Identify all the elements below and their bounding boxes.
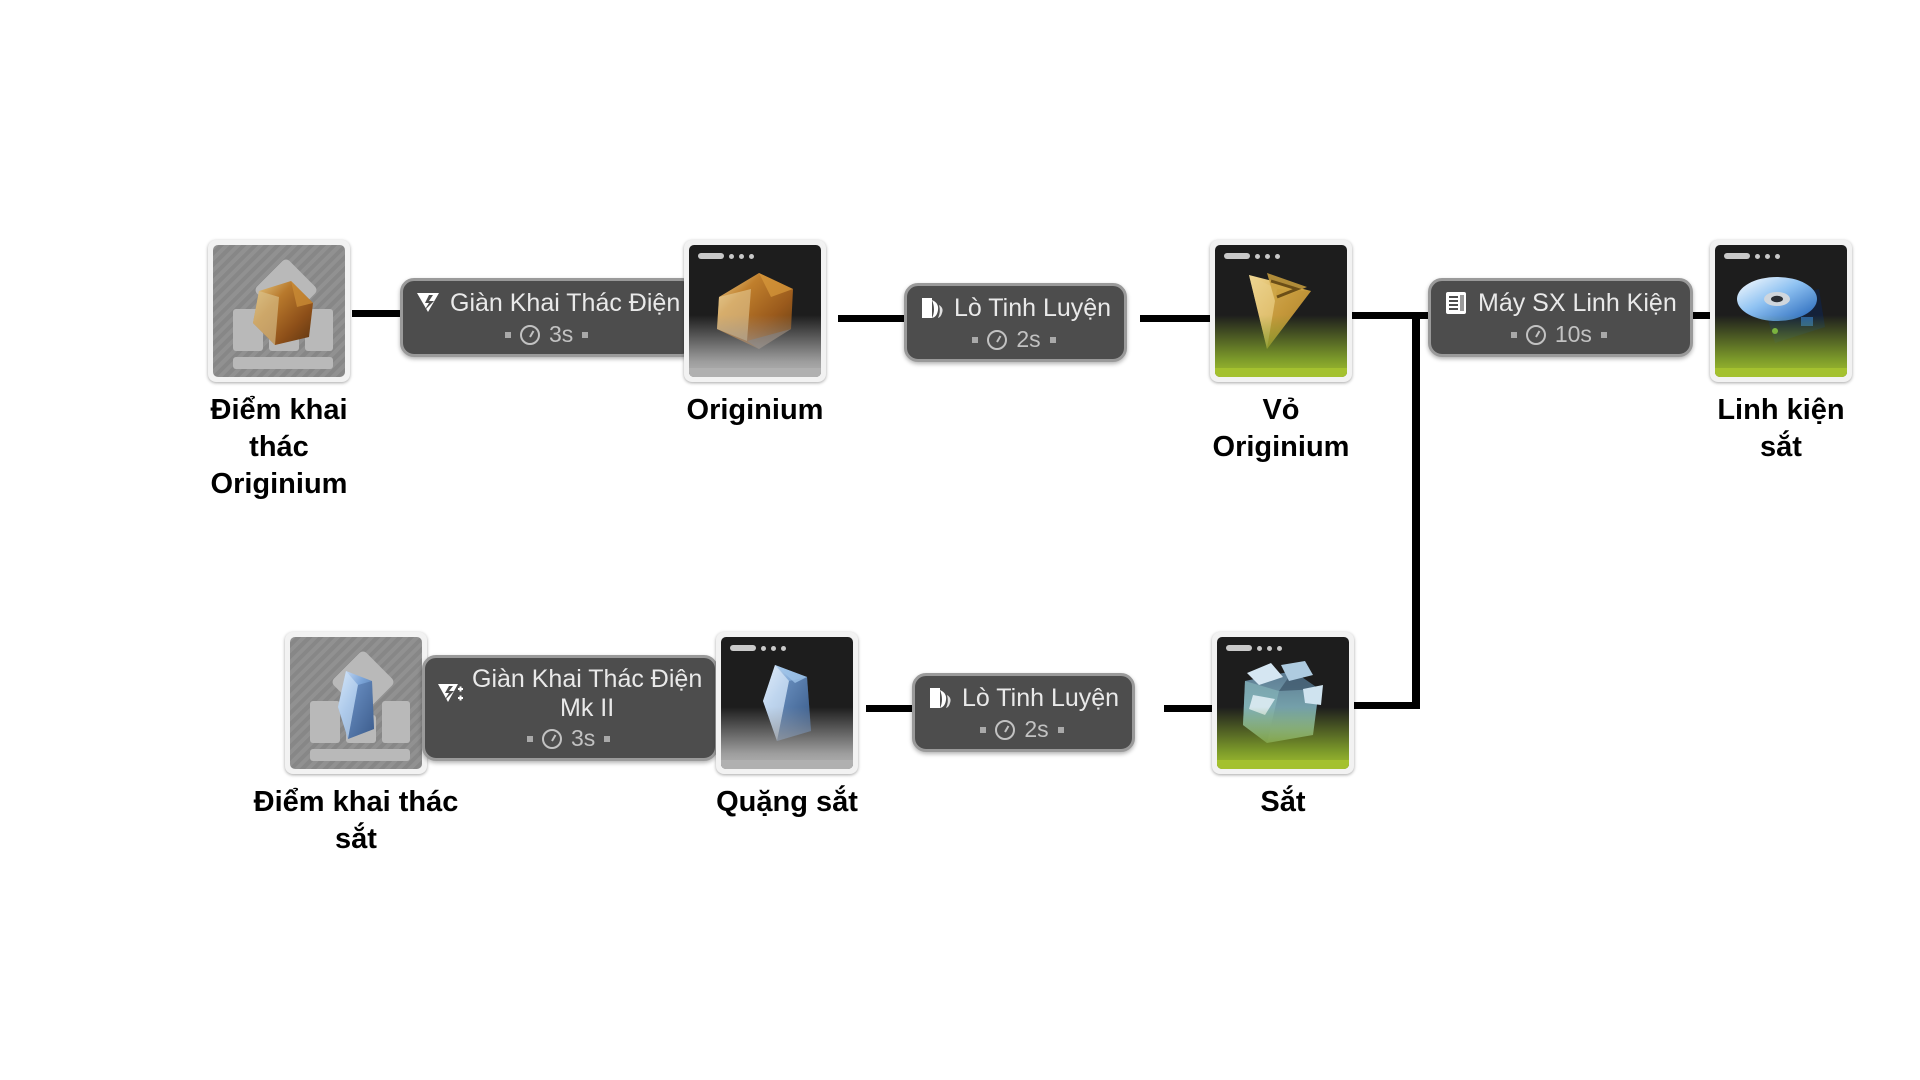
clock-icon xyxy=(995,720,1015,740)
recipe-time: 2s xyxy=(972,326,1055,353)
card-badges xyxy=(1724,253,1780,259)
assembler-icon xyxy=(1441,288,1471,318)
tier-dot xyxy=(739,254,744,259)
tier-dot xyxy=(1275,254,1280,259)
rarity-pill xyxy=(1226,645,1252,651)
smelter-icon xyxy=(917,293,947,323)
tier-dot xyxy=(1765,254,1770,259)
tier-dot xyxy=(1265,254,1270,259)
tier-dot xyxy=(1775,254,1780,259)
tick-right xyxy=(604,736,610,742)
crafting-tree-diagram: Điểm khai thác Originium Giàn Khai Thác … xyxy=(0,0,1920,1080)
iron-component-icon[interactable] xyxy=(1710,240,1852,382)
node-quang-sat[interactable]: Quặng sắt xyxy=(716,632,858,821)
card-base-strip xyxy=(1715,368,1847,377)
connector-sat-elbow-bottom xyxy=(1352,702,1420,709)
node-originium[interactable]: Originium xyxy=(684,240,826,429)
tier-dot xyxy=(1267,646,1272,651)
tier-dot xyxy=(1277,646,1282,651)
tier-dot xyxy=(1755,254,1760,259)
recipe-time-value: 3s xyxy=(549,321,573,348)
clock-icon xyxy=(542,729,562,749)
tick-left xyxy=(505,332,511,338)
tick-right xyxy=(1050,337,1056,343)
recipe-name: Lò Tinh Luyện xyxy=(962,684,1119,713)
node-linh-kien-sat[interactable]: Linh kiện sắt xyxy=(1710,240,1852,466)
card-base-strip xyxy=(689,368,821,377)
tier-dot xyxy=(1255,254,1260,259)
card-badges xyxy=(1226,645,1282,651)
recipe-time: 2s xyxy=(980,716,1063,743)
card-base-strip xyxy=(1215,368,1347,377)
recipe-may-sx-linh-kien[interactable]: Máy SX Linh Kiện 10s xyxy=(1428,278,1693,357)
smelter-icon xyxy=(925,683,955,713)
recipe-time: 3s xyxy=(527,725,610,752)
originium-ore-icon[interactable] xyxy=(684,240,826,382)
rarity-pill xyxy=(1724,253,1750,259)
tier-dot xyxy=(771,646,776,651)
tier-dot xyxy=(1257,646,1262,651)
node-sat[interactable]: Sắt xyxy=(1212,632,1354,821)
recipe-name: Lò Tinh Luyện xyxy=(954,294,1111,323)
recipe-name: Giàn Khai Thác Điện Mk II xyxy=(472,665,702,722)
connector-smelter1-to-vo-originium xyxy=(1140,315,1210,322)
tick-right xyxy=(582,332,588,338)
node-label: Originium xyxy=(687,392,824,429)
recipe-time-value: 2s xyxy=(1016,326,1040,353)
node-label: Linh kiện sắt xyxy=(1717,392,1844,466)
recipe-time: 3s xyxy=(505,321,588,348)
recipe-lo-tinh-luyen-top[interactable]: Lò Tinh Luyện 2s xyxy=(904,283,1127,362)
tick-left xyxy=(527,736,533,742)
originium-rock-art xyxy=(213,245,345,377)
tick-left xyxy=(1511,332,1517,338)
tick-left xyxy=(980,727,986,733)
card-badges xyxy=(1224,253,1280,259)
recipe-time-value: 2s xyxy=(1024,716,1048,743)
clock-icon xyxy=(1526,325,1546,345)
rarity-pill xyxy=(730,645,756,651)
connector-sat-elbow-vertical xyxy=(1412,312,1420,706)
recipe-gian-khai-thac-dien[interactable]: Giàn Khai Thác Điện 3s xyxy=(400,278,696,357)
originium-shell-icon[interactable] xyxy=(1210,240,1352,382)
electric-miner-mk2-icon xyxy=(435,679,465,709)
tick-right xyxy=(1058,727,1064,733)
recipe-time: 10s xyxy=(1511,321,1607,348)
connector-originium-to-smelter1 xyxy=(838,315,906,322)
recipe-name: Giàn Khai Thác Điện xyxy=(450,289,680,318)
connector-smelter2-to-sat xyxy=(1164,705,1212,712)
tick-left xyxy=(972,337,978,343)
node-label: Vỏ Originium xyxy=(1213,392,1350,466)
recipe-time-value: 3s xyxy=(571,725,595,752)
node-diem-khai-thac-originium[interactable]: Điểm khai thác Originium xyxy=(208,240,350,503)
clock-icon xyxy=(520,325,540,345)
iron-crystal-art xyxy=(290,637,422,769)
tier-dot xyxy=(761,646,766,651)
connector-quang-sat-to-smelter2 xyxy=(866,705,914,712)
tick-right xyxy=(1601,332,1607,338)
tier-dot xyxy=(749,254,754,259)
electric-miner-icon xyxy=(413,288,443,318)
node-label: Quặng sắt xyxy=(716,784,858,821)
card-badges xyxy=(730,645,786,651)
iron-ore-icon[interactable] xyxy=(716,632,858,774)
node-vo-originium[interactable]: Vỏ Originium xyxy=(1210,240,1352,466)
card-base-strip xyxy=(1217,760,1349,769)
node-label: Điểm khai thác sắt xyxy=(236,784,476,858)
rarity-pill xyxy=(1224,253,1250,259)
card-base-strip xyxy=(721,760,853,769)
mining-node-originium-icon[interactable] xyxy=(208,240,350,382)
node-label: Sắt xyxy=(1260,784,1305,821)
mining-node-iron-icon[interactable] xyxy=(285,632,427,774)
tier-dot xyxy=(781,646,786,651)
tier-dot xyxy=(729,254,734,259)
recipe-lo-tinh-luyen-bottom[interactable]: Lò Tinh Luyện 2s xyxy=(912,673,1135,752)
iron-ingot-icon[interactable] xyxy=(1212,632,1354,774)
node-label: Điểm khai thác Originium xyxy=(211,392,348,503)
recipe-gian-khai-thac-dien-mk2[interactable]: Giàn Khai Thác Điện Mk II 3s xyxy=(422,655,718,761)
recipe-time-value: 10s xyxy=(1555,321,1592,348)
rarity-pill xyxy=(698,253,724,259)
clock-icon xyxy=(987,330,1007,350)
recipe-name: Máy SX Linh Kiện xyxy=(1478,289,1677,318)
card-badges xyxy=(698,253,754,259)
